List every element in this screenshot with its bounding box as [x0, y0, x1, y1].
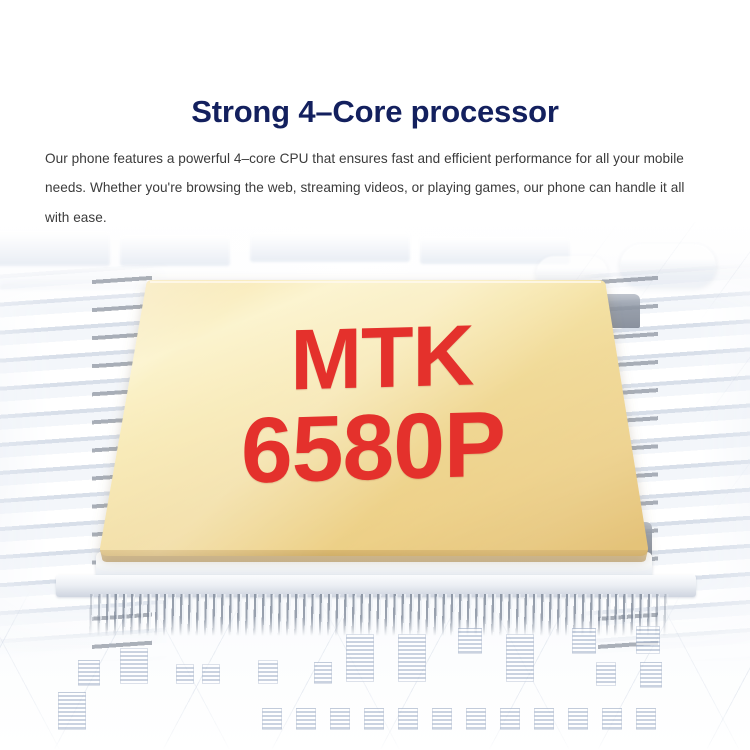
smd-pad [58, 692, 86, 730]
page-title: Strong 4–Core processor [0, 93, 750, 131]
chip-top-face [100, 280, 648, 556]
chip-marking: MTK 6580P [0, 316, 750, 493]
smd-pad [640, 662, 662, 688]
smd-pad [398, 634, 426, 682]
smd-pad [466, 708, 486, 730]
board-slab [120, 236, 230, 266]
capacitor-component [536, 256, 608, 292]
smd-pad [572, 628, 596, 654]
smd-pad [534, 708, 554, 730]
capacitor-component [620, 244, 716, 288]
smd-pad [364, 708, 384, 730]
smd-pad [258, 660, 278, 684]
smd-pad [636, 708, 656, 730]
smd-pad [176, 664, 194, 684]
smd-pad [346, 634, 374, 682]
smd-pad [398, 708, 418, 730]
chip-model-text: 6580P [0, 392, 748, 503]
smd-pad [432, 708, 452, 730]
smd-pad [458, 628, 482, 654]
chip-specular-sheen [100, 280, 648, 556]
smd-pad [78, 660, 100, 686]
smd-pad [120, 648, 148, 684]
board-slab [250, 234, 410, 262]
product-feature-page: Strong 4–Core processor Our phone featur… [0, 0, 750, 750]
cpu-chip-photo: MTK 6580P [0, 222, 750, 750]
smd-pad [596, 662, 616, 686]
smd-pad [202, 664, 220, 684]
smd-pad [296, 708, 316, 730]
board-slab [0, 232, 110, 266]
smd-pad [568, 708, 588, 730]
socket-shoulder-bottom-right [596, 522, 652, 556]
feature-text-block: Strong 4–Core processor Our phone featur… [0, 0, 750, 222]
smd-pad [314, 662, 332, 684]
board-slab [0, 276, 520, 290]
socket-shoulder-right [596, 294, 640, 328]
smd-pad [330, 708, 350, 730]
smd-pad [506, 634, 534, 682]
smd-pad [262, 708, 282, 730]
smd-pad [636, 626, 660, 654]
feature-description: Our phone features a powerful 4–core CPU… [45, 144, 707, 233]
smd-pad [500, 708, 520, 730]
smd-pad [602, 708, 622, 730]
